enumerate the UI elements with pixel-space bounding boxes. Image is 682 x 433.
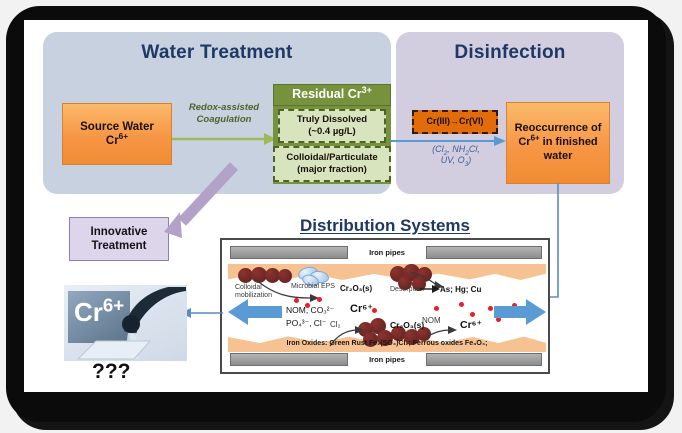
iron-oxides-caption: Iron Oxides: Green Rust Fe₂(SO₄)Cl₂; Fer… [228, 340, 546, 347]
truly-dissolved-line1: Truly Dissolved [297, 114, 367, 125]
innovative-line2: Treatment [92, 240, 147, 252]
innovative-line1: Innovative [91, 226, 148, 238]
pipe-bar-bottom-right [426, 353, 542, 366]
oxidant-uv: UV, O [441, 155, 465, 165]
source-water-charge: 6+ [119, 132, 128, 141]
nom-reaction-arrow [426, 322, 460, 342]
reoccurrence-box[interactable]: Reoccurrence of Cr6+ in finished water [506, 102, 610, 184]
distribution-pipe-diagram: Iron pipes Colloidal mobilization [220, 238, 550, 374]
redox-coagulation-arrow [172, 130, 276, 148]
pipe-label-top: Iron pipes [348, 248, 426, 257]
pipe-bar-bottom-left [230, 353, 348, 366]
cr6-dot [294, 298, 299, 303]
cr6-dot [434, 306, 439, 311]
cr6-right-label: Cr⁶⁺ [460, 319, 482, 331]
residual-header-charge: 3+ [362, 85, 372, 95]
distribution-systems-title: Distribution Systems [220, 216, 550, 236]
chromia-top-label: Cr₂O₃(s) [340, 284, 372, 293]
tap-water-image: Cr6+ [64, 285, 187, 361]
nom-carbonate-line-2: PO₄³⁻, Cl⁻ [286, 318, 326, 328]
pipe-bar-top-right [426, 246, 542, 259]
cr6-dot [488, 306, 493, 311]
colloidal-particulate-box: Colloidal/Particulate (major fraction) [273, 146, 391, 182]
nom-carbonate-line-1: NOM, CO₃²⁻ [286, 305, 334, 315]
oxidant-cl: (Cl [432, 144, 444, 154]
figure-root: Water Treatment Source Water Cr6+ Redox-… [0, 0, 682, 433]
redox-label-line2: Coagulation [197, 114, 252, 125]
truly-dissolved-line2: (~0.4 µg/L) [308, 126, 355, 137]
cr3-to-cr6-box: Cr(III)→Cr(VI) [412, 110, 498, 134]
cr6-center-label: Cr⁶⁺ [350, 302, 373, 315]
source-water-line1: Source Water [80, 121, 154, 133]
colloidal-line2: (major fraction) [297, 164, 367, 175]
reoccurrence-charge: 6+ [531, 133, 540, 142]
outflow-block-arrow [228, 298, 282, 326]
question-marks: ??? [92, 360, 130, 384]
oxidant-close: ) [468, 155, 471, 165]
oxidant-mid: , NH [447, 144, 465, 154]
truly-dissolved-box: Truly Dissolved (~0.4 µg/L) [278, 109, 386, 143]
water-treatment-title: Water Treatment [43, 42, 391, 64]
oxidants-label: (Cl2, NH2Cl, UV, O3) [410, 144, 502, 166]
cr6-dot [317, 297, 322, 302]
reoccurrence-line3: water [544, 150, 573, 162]
sink-basin [74, 337, 154, 361]
desorption-products-arrow [420, 283, 442, 295]
chromia-bottom-label: Cr₂O₃(s) [390, 320, 424, 330]
pipe-bar-top-left [230, 246, 348, 259]
cr6-dot [459, 302, 464, 307]
cr3-to-cr6-label: Cr(III)→Cr(VI) [427, 116, 484, 127]
reoccurrence-line2-post: in finished [540, 136, 598, 148]
pipe-label-bottom: Iron pipes [348, 355, 426, 364]
disinfection-title: Disinfection [396, 42, 624, 64]
reoccurrence-feedback-line [534, 183, 646, 301]
reoccurrence-cr: Cr [518, 136, 530, 148]
colloidal-line1: Colloidal/Particulate [286, 152, 377, 163]
residual-header-text: Residual Cr [292, 87, 361, 101]
oxidant-post: Cl, [469, 144, 480, 154]
redox-coagulation-label: Redox-assisted Coagulation [176, 102, 272, 126]
reoccurrence-line1: Reoccurrence of [515, 122, 602, 134]
figure-canvas: Water Treatment Source Water Cr6+ Redox-… [24, 20, 648, 392]
source-water-cr: Cr [106, 135, 119, 147]
cr6-dot [470, 312, 475, 317]
cr6-overlay-cr: Cr [74, 297, 103, 327]
residual-cr3-header: Residual Cr3+ [273, 84, 391, 106]
inflow-block-arrow [494, 298, 546, 326]
redox-label-line1: Redox-assisted [189, 102, 259, 113]
source-water-box[interactable]: Source Water Cr6+ [62, 103, 172, 165]
